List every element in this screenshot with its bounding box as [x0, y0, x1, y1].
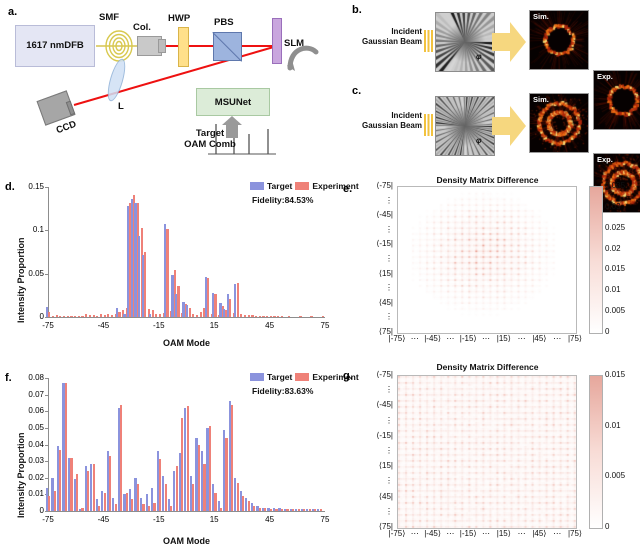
- bar-experiment: [281, 316, 283, 317]
- y-tick-mark: [45, 511, 48, 512]
- y-tick-label: 0: [14, 312, 44, 321]
- phi-symbol-b: φ: [476, 52, 482, 61]
- bar-experiment: [262, 316, 264, 317]
- y-axis-line: [48, 378, 49, 511]
- heatmap-row-label: ⟨45|: [347, 492, 393, 501]
- bar-experiment: [142, 504, 144, 511]
- collimator-tip: [158, 39, 166, 53]
- heatmap-row-label: ⋮: [347, 416, 393, 425]
- panel-a-label: a.: [8, 6, 17, 18]
- bar-experiment: [170, 506, 172, 511]
- panel-a-setup-diagram: a. 1617 nm DFB MSUNet SMF Col. HWP: [0, 0, 340, 175]
- y-tick-label: 0.05: [14, 423, 44, 432]
- y-tick-mark: [45, 445, 48, 446]
- colorbar-tick-label: 0: [605, 522, 609, 531]
- bar-experiment: [56, 315, 58, 317]
- smf-label: SMF: [99, 12, 119, 23]
- legend-label-target: Target: [267, 181, 292, 191]
- legend-swatch-target: [250, 182, 264, 190]
- heatmap-row-label: ⋮: [347, 507, 393, 516]
- bar-experiment: [266, 316, 268, 317]
- bar-experiment: [177, 286, 179, 317]
- bar-experiment: [48, 312, 50, 317]
- y-tick-label: 0.07: [14, 390, 44, 399]
- colorbar-tick-label: 0.005: [605, 471, 625, 480]
- heatmap-row-label: ⋮: [347, 283, 393, 292]
- bar-experiment: [70, 316, 72, 317]
- bar-experiment: [286, 509, 288, 511]
- heatmap-row-label: ⟨-45|: [347, 400, 393, 409]
- colorbar-tick-label: 0.01: [605, 421, 621, 430]
- x-tick-label: -75: [34, 515, 62, 524]
- bar-experiment: [159, 314, 161, 317]
- heatmap-row-label: ⟨-15|: [347, 431, 393, 440]
- heatmap-row-label: ⋮: [347, 225, 393, 234]
- bar-experiment: [81, 316, 83, 317]
- bar-experiment: [255, 316, 257, 317]
- pbs-label: PBS: [214, 17, 234, 28]
- bar-experiment: [63, 316, 65, 317]
- colorbar-tick-label: 0.025: [605, 223, 625, 232]
- y-tick-mark: [45, 395, 48, 396]
- bar-experiment: [275, 509, 277, 511]
- heatmap-row-label: ⋮: [347, 312, 393, 321]
- y-tick-label: 0.06: [14, 406, 44, 415]
- bar-experiment: [131, 499, 133, 511]
- bar-experiment: [187, 406, 189, 511]
- colorbar-tick-label: 0: [605, 327, 609, 336]
- bar-experiment: [298, 509, 300, 511]
- heatmap-col-label: |75⟩: [558, 334, 592, 343]
- heatmap-row-label: ⟨45|: [347, 298, 393, 307]
- hwp-label: HWP: [168, 13, 190, 24]
- bar-experiment: [196, 315, 198, 317]
- target-line2: OAM Comb: [184, 139, 236, 150]
- bar-experiment: [89, 315, 91, 317]
- bar-experiment: [126, 493, 128, 511]
- heatmap-row-label: ⋮: [347, 254, 393, 263]
- panel-f-xlabel: OAM Mode: [44, 536, 329, 546]
- col-label: Col.: [133, 22, 151, 33]
- exp-label-c: Exp.: [597, 155, 613, 164]
- bar-experiment: [244, 315, 246, 317]
- incident-line2: Gaussian Beam: [362, 121, 422, 130]
- bar-experiment: [198, 445, 200, 512]
- sim-image-c: Sim.: [529, 93, 589, 153]
- bar-experiment: [165, 484, 167, 511]
- panel-b-label: b.: [352, 4, 362, 16]
- panel-d-fidelity: Fidelity:84.53%: [252, 195, 313, 205]
- bar-experiment: [220, 508, 222, 511]
- target-comb-label: Target OAM Comb: [180, 128, 240, 150]
- y-tick-label: 0.04: [14, 440, 44, 449]
- bar-experiment: [207, 278, 209, 317]
- panel-c-multi-ring: c. Incident Gaussian Beam φ Sim. Exp.: [340, 85, 640, 173]
- bar-experiment: [144, 252, 146, 317]
- y-tick-mark: [45, 411, 48, 412]
- bar-experiment: [176, 466, 178, 511]
- panel-g-heatmap: [397, 375, 577, 529]
- heatmap-row-label: ⋮: [347, 446, 393, 455]
- heatmap-row-label: ⟨-75|: [347, 370, 393, 379]
- bar-experiment: [120, 405, 122, 511]
- bar-experiment: [310, 316, 312, 317]
- bar-experiment: [314, 509, 316, 511]
- half-wave-plate: [178, 27, 189, 67]
- bar-experiment: [70, 458, 72, 511]
- bar-experiment: [76, 474, 78, 511]
- bar-experiment: [159, 459, 161, 511]
- bar-experiment: [192, 314, 194, 317]
- bar-experiment: [273, 316, 275, 317]
- bar-experiment: [248, 315, 250, 317]
- bar-experiment: [181, 418, 183, 511]
- dfb-line2: DFB: [64, 40, 84, 52]
- slm-label: SLM: [284, 38, 304, 49]
- y-tick-label: 0.02: [14, 473, 44, 482]
- bar-experiment: [270, 316, 272, 317]
- colorbar-tick-label: 0.005: [605, 306, 625, 315]
- target-line1: Target: [196, 128, 224, 139]
- bar-experiment: [59, 450, 61, 512]
- y-tick-mark: [45, 187, 48, 188]
- bar-experiment: [152, 310, 154, 317]
- bar-experiment: [115, 504, 117, 511]
- colorbar-tick-label: 0.03: [605, 202, 621, 211]
- bar-experiment: [137, 484, 139, 511]
- bar-experiment: [259, 508, 261, 511]
- exp-label-b: Exp.: [597, 72, 613, 81]
- panel-b-incident-beam-label: Incident Gaussian Beam: [344, 27, 422, 48]
- x-axis-line: [48, 511, 325, 512]
- bar-experiment: [85, 314, 87, 317]
- dfb-laser-box: 1617 nm DFB: [15, 25, 95, 67]
- y-tick-mark: [45, 274, 48, 275]
- bar-experiment: [320, 509, 322, 511]
- bar-experiment: [229, 299, 231, 317]
- sim-image-b: Sim.: [529, 10, 589, 70]
- heatmap-col-label: |75⟩: [558, 529, 592, 538]
- x-tick-label: -15: [145, 321, 173, 330]
- y-tick-label: 0.08: [14, 373, 44, 382]
- y-tick-mark: [45, 317, 48, 318]
- bar-experiment: [209, 426, 211, 511]
- panel-f-spectrum-chart: f. Intensity Proportion OAM Mode 00.010.…: [0, 358, 335, 555]
- panel-b-single-ring: b. Incident Gaussian Beam φ Sim. Exp.: [340, 0, 640, 88]
- slm-phase-grating-b: [435, 12, 495, 72]
- bar-experiment: [192, 484, 194, 511]
- bar-experiment: [251, 315, 253, 317]
- y-tick-mark: [45, 428, 48, 429]
- panel-e-heatmap: [397, 186, 577, 334]
- x-tick-label: -75: [34, 321, 62, 330]
- x-tick-label: 45: [256, 515, 284, 524]
- colorbar-tick-label: 0.015: [605, 370, 625, 379]
- phi-symbol-c: φ: [476, 136, 482, 145]
- bar-experiment: [65, 383, 67, 511]
- bar-experiment: [98, 506, 100, 511]
- bar-experiment: [54, 491, 56, 511]
- smf-coil-icon: [96, 29, 142, 63]
- bar-experiment: [214, 493, 216, 511]
- msunet-block: MSUNet: [196, 88, 270, 116]
- bar-experiment: [242, 496, 244, 511]
- bar-experiment: [118, 312, 120, 317]
- y-tick-label: 0.03: [14, 456, 44, 465]
- bar-experiment: [292, 509, 294, 511]
- colorbar-tick-label: 0.035: [605, 181, 625, 190]
- bar-experiment: [240, 314, 242, 317]
- bar-experiment: [111, 315, 113, 317]
- y-axis-line: [48, 187, 49, 317]
- yellow-arrow-b-icon: [492, 22, 526, 62]
- bar-experiment: [288, 316, 290, 317]
- bar-experiment: [264, 508, 266, 511]
- y-tick-mark: [45, 378, 48, 379]
- heatmap-row-label: ⋮: [347, 196, 393, 205]
- bar-experiment: [67, 316, 69, 317]
- incident-line2: Gaussian Beam: [362, 37, 422, 46]
- bar-experiment: [225, 438, 227, 511]
- bar-experiment: [214, 294, 216, 317]
- sim-label-c: Sim.: [533, 95, 549, 104]
- colorbar-tick-label: 0.02: [605, 244, 621, 253]
- heatmap-row-label: ⟨-75|: [347, 181, 393, 190]
- panel-e-density-matrix: e. Density Matrix Difference ⟨-75|⋮⟨-45|…: [335, 175, 640, 355]
- bar-experiment: [148, 506, 150, 511]
- legend-swatch-target: [250, 373, 264, 381]
- bar-experiment: [237, 483, 239, 511]
- panel-f-plot-area: 00.010.020.030.040.050.060.070.08-75-45-…: [48, 378, 325, 511]
- bar-experiment: [166, 229, 168, 317]
- y-tick-label: 0.15: [14, 182, 44, 191]
- x-tick-label: -45: [89, 321, 117, 330]
- colorbar-tick-label: 0.015: [605, 264, 625, 273]
- panel-c-incident-beam-label: Incident Gaussian Beam: [344, 111, 422, 132]
- y-tick-label: 0.01: [14, 489, 44, 498]
- bar-experiment: [96, 316, 98, 317]
- y-tick-label: 0.05: [14, 269, 44, 278]
- legend-swatch-experiment: [295, 373, 309, 381]
- bar-experiment: [231, 405, 233, 511]
- panel-d-xlabel: OAM Mode: [44, 338, 329, 348]
- x-tick-label: 15: [200, 515, 228, 524]
- heatmap-row-label: ⟨-15|: [347, 239, 393, 248]
- bar-experiment: [81, 508, 83, 511]
- x-axis-line: [48, 317, 325, 318]
- bar-experiment: [87, 471, 89, 511]
- panel-d-ylabel: Intensity Proportion: [16, 238, 26, 324]
- bar-experiment: [78, 316, 80, 317]
- yellow-arrow-c-icon: [492, 106, 526, 146]
- y-tick-label: 0.1: [14, 225, 44, 234]
- y-tick-mark: [45, 230, 48, 231]
- heatmap-row-label: ⟨15|: [347, 461, 393, 470]
- bar-experiment: [309, 509, 311, 511]
- x-tick-label: 15: [200, 321, 228, 330]
- colorbar-tick-label: 0.01: [605, 285, 621, 294]
- legend-swatch-experiment: [295, 182, 309, 190]
- bar-experiment: [59, 316, 61, 317]
- panel-f-label: f.: [5, 372, 12, 384]
- bar-experiment: [203, 464, 205, 511]
- incident-line1: Incident: [391, 27, 422, 36]
- y-tick-mark: [45, 478, 48, 479]
- y-tick-mark: [45, 461, 48, 462]
- bar-experiment: [259, 316, 261, 317]
- bar-experiment: [299, 316, 301, 317]
- bar-experiment: [109, 456, 111, 511]
- panel-d-spectrum-chart: d. Intensity Proportion OAM Mode 00.050.…: [0, 175, 335, 355]
- bar-experiment: [189, 308, 191, 317]
- bar-experiment: [93, 315, 95, 317]
- ccd-label: CCD: [55, 119, 78, 136]
- incident-line1: Incident: [391, 111, 422, 120]
- bar-experiment: [93, 464, 95, 511]
- bar-experiment: [322, 316, 324, 317]
- bar-experiment: [52, 316, 54, 317]
- bar-experiment: [155, 314, 157, 317]
- heatmap-row-label: ⟨15|: [347, 269, 393, 278]
- x-tick-label: 45: [256, 321, 284, 330]
- heatmap-row-label: ⋮: [347, 385, 393, 394]
- bar-experiment: [277, 316, 279, 317]
- bar-experiment: [200, 312, 202, 317]
- bar-experiment: [153, 503, 155, 511]
- slm-phase-grating-c: [435, 96, 495, 156]
- panel-e-colorbar: [589, 186, 603, 334]
- bar-experiment: [253, 506, 255, 511]
- dfb-line1: 1617 nm: [26, 40, 64, 52]
- bar-experiment: [100, 314, 102, 317]
- lens-element: [104, 57, 129, 103]
- lens-label: L: [118, 101, 124, 112]
- panel-f-fidelity: Fidelity:83.63%: [252, 386, 313, 396]
- x-tick-label: -15: [145, 515, 173, 524]
- sim-label-b: Sim.: [533, 12, 549, 21]
- spatial-light-modulator: [272, 18, 282, 64]
- beam-ticks-icon: [424, 114, 433, 136]
- bar-experiment: [104, 315, 106, 317]
- panel-c-label: c.: [352, 85, 361, 97]
- legend-label-target: Target: [267, 372, 292, 382]
- polarizing-beam-splitter: [213, 32, 242, 61]
- bar-experiment: [74, 316, 76, 317]
- x-tick-label: -45: [89, 515, 117, 524]
- bar-experiment: [281, 509, 283, 511]
- bar-experiment: [248, 501, 250, 511]
- bar-experiment: [303, 509, 305, 511]
- panel-d-plot-area: 00.050.10.15-75-45-15154575: [48, 187, 325, 317]
- panel-g-colorbar: [589, 375, 603, 529]
- bar-experiment: [48, 496, 50, 511]
- panel-g-density-matrix: g. Density Matrix Difference ⟨-75|⋮⟨-45|…: [335, 360, 640, 555]
- heatmap-row-label: ⟨-45|: [347, 210, 393, 219]
- bar-experiment: [237, 283, 239, 317]
- y-tick-label: 0: [14, 506, 44, 515]
- beam-ticks-icon: [424, 30, 433, 52]
- bar-experiment: [104, 493, 106, 511]
- bar-experiment: [270, 509, 272, 511]
- heatmap-row-label: ⋮: [347, 476, 393, 485]
- bar-experiment: [107, 314, 109, 317]
